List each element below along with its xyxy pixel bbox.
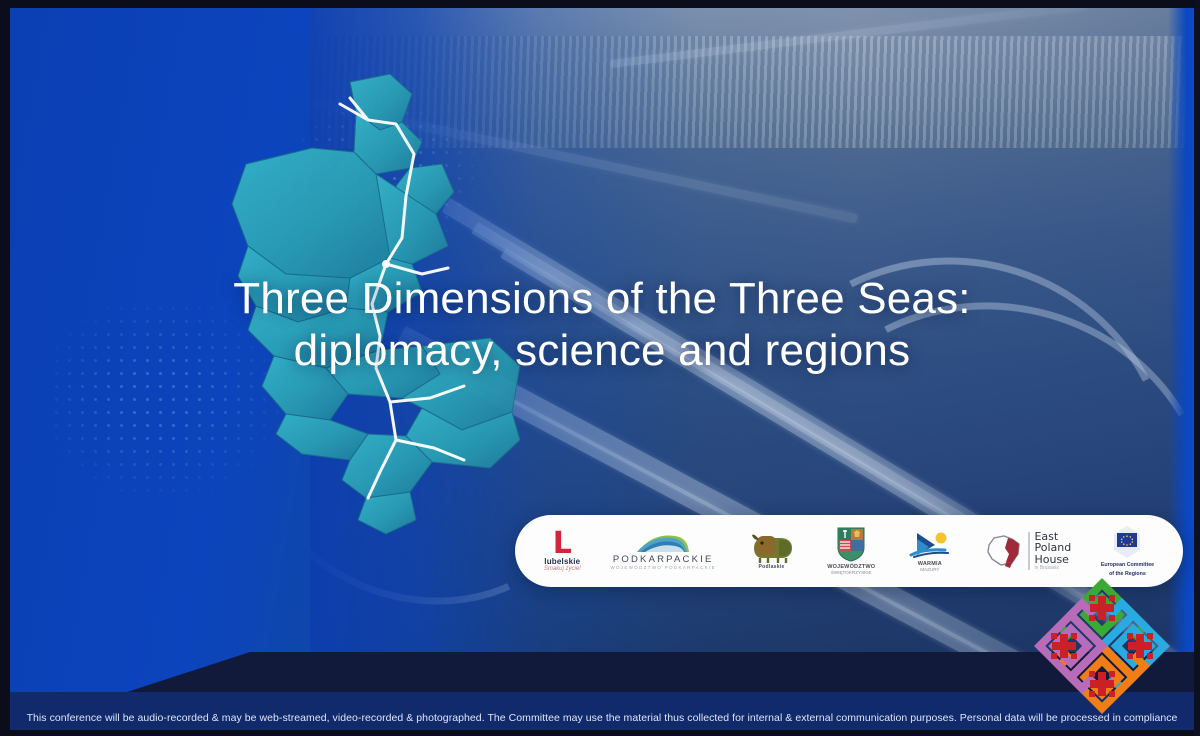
coat-of-arms-icon <box>836 526 866 562</box>
logo-swietokrzyskie: WOJEWÓDZTWO ŚWIĘTOKRZYSKIE <box>827 520 875 582</box>
swietokrzyskie-tagline: ŚWIĘTOKRZYSKIE <box>831 570 872 576</box>
lubelskie-tagline: Smakuj życie! <box>544 566 581 572</box>
poland-outline-icon <box>984 532 1024 570</box>
player-frame-top <box>0 0 1200 8</box>
slide-title-line-1: Three Dimensions of the Three Seas: <box>10 273 1194 325</box>
bison-icon <box>746 532 798 564</box>
lubelskie-l-mark: L <box>553 531 572 557</box>
three-seas-folk-pattern-logo <box>1020 564 1184 724</box>
logo-lubelskie: L lubelskie Smakuj życie! <box>544 520 581 582</box>
slide-title-line-2: diplomacy, science and regions <box>10 325 1194 377</box>
podkarpackie-tagline: WOJEWÓDZTWO PODKARPACKIE <box>610 565 715 570</box>
logo-podkarpackie: PODKARPACKIE WOJEWÓDZTWO PODKARPACKIE <box>610 520 715 582</box>
lubelskie-label: lubelskie <box>544 557 580 566</box>
recording-disclaimer: This conference will be audio-recorded &… <box>10 712 1194 724</box>
podlaskie-label: Podlaskie <box>759 564 785 570</box>
player-frame-left <box>0 0 10 736</box>
sail-icon <box>905 529 955 559</box>
eu-flag-icon <box>1101 525 1153 559</box>
bottom-blue-band <box>10 692 1194 730</box>
logo-podlaskie: Podlaskie <box>746 520 798 582</box>
video-slide-frame: Three Dimensions of the Three Seas: dipl… <box>0 0 1200 736</box>
podkarpackie-label: PODKARPACKIE <box>613 554 714 565</box>
presentation-slide: Three Dimensions of the Three Seas: dipl… <box>10 8 1194 730</box>
player-frame-right <box>1194 0 1200 736</box>
podkarpackie-hills-icon <box>635 532 691 554</box>
mazury-label: MAZURY <box>920 567 939 573</box>
logo-warmia-mazury: WARMIA MAZURY <box>905 520 955 582</box>
slide-title: Three Dimensions of the Three Seas: dipl… <box>10 273 1194 377</box>
